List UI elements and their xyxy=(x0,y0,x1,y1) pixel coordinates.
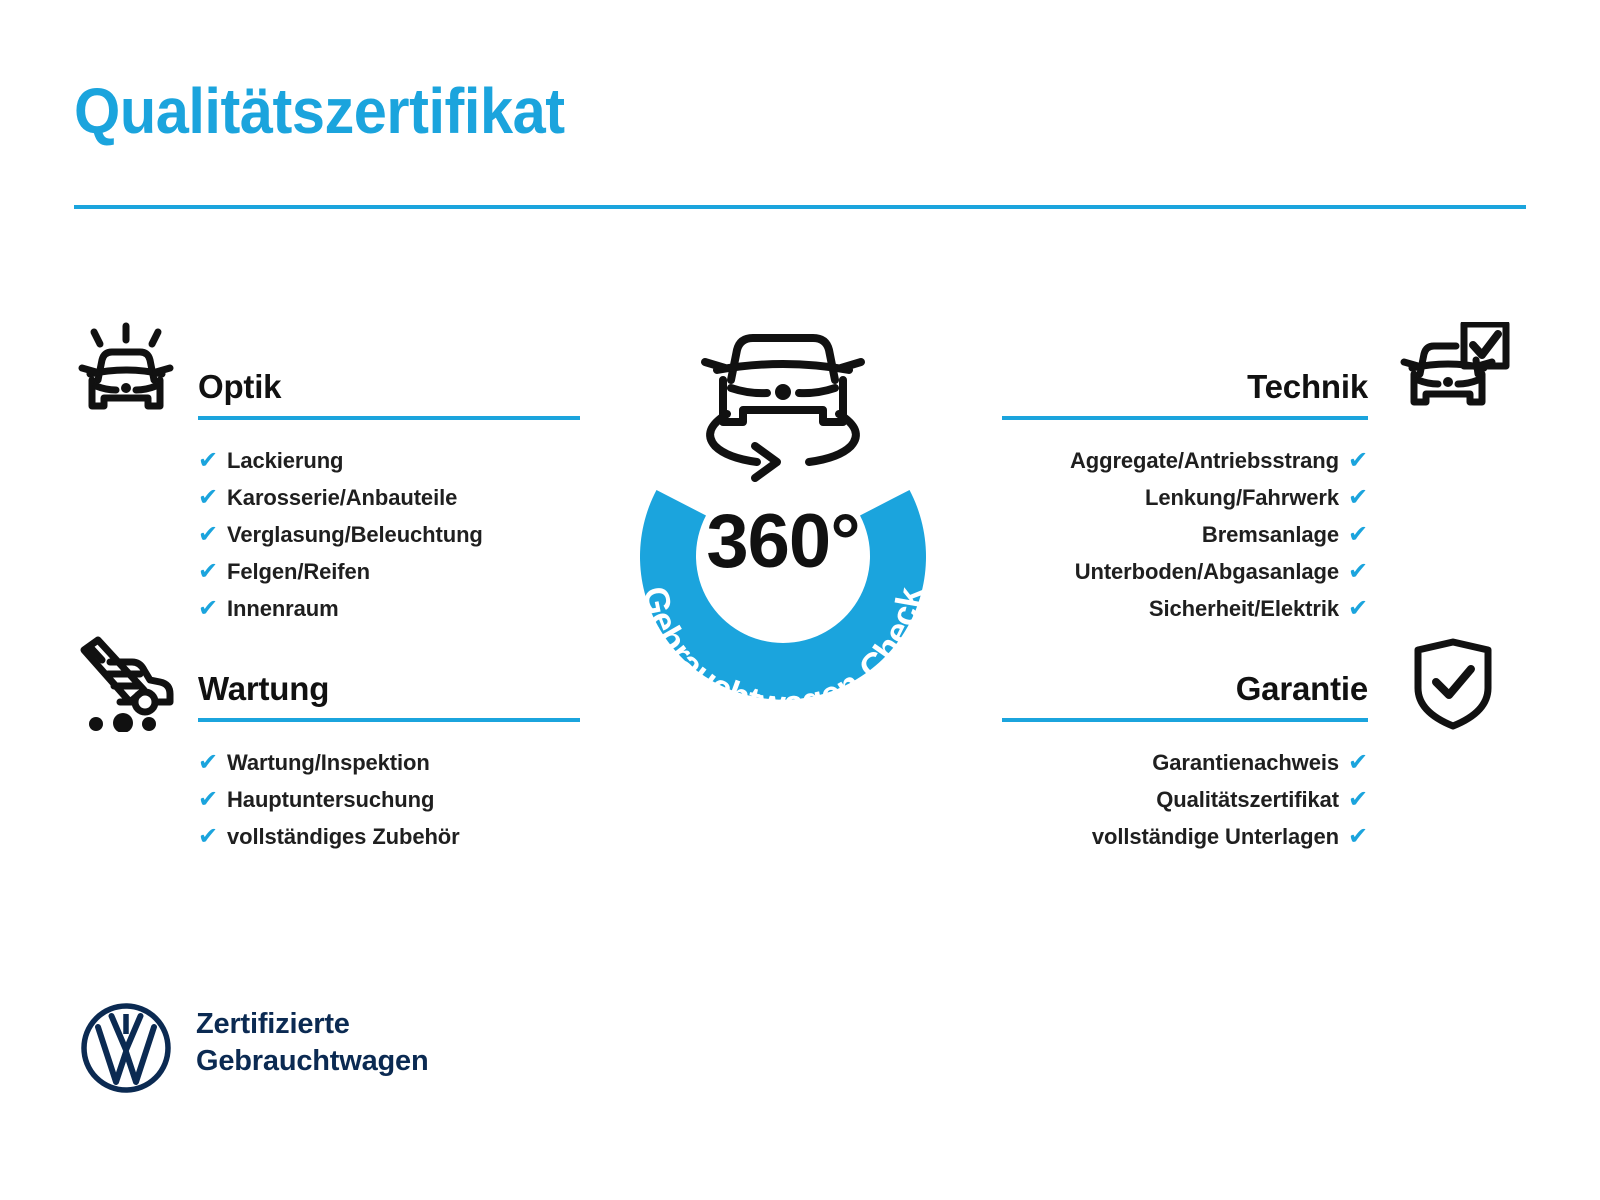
section-garantie: Garantie Garantienachweis✔ Qualitätszert… xyxy=(1002,670,1368,855)
pencil-car-service-icon xyxy=(74,636,178,737)
check-icon: ✔ xyxy=(1348,595,1368,622)
section-title: Garantie xyxy=(1002,670,1368,708)
list-item-label: Bremsanlage xyxy=(1202,522,1339,547)
check-icon: ✔ xyxy=(198,823,218,850)
check-icon: ✔ xyxy=(198,447,218,474)
checklist: Aggregate/Antriebsstrang✔ Lenkung/Fahrwe… xyxy=(1002,442,1368,627)
section-optik: Optik ✔Lackierung ✔Karosserie/Anbauteile… xyxy=(198,368,580,627)
vw-logo-icon xyxy=(78,1000,174,1101)
list-item: ✔Felgen/Reifen xyxy=(198,553,580,590)
check-icon: ✔ xyxy=(1348,447,1368,474)
list-item: vollständige Unterlagen✔ xyxy=(1002,818,1368,855)
check-icon: ✔ xyxy=(1348,558,1368,585)
list-item-label: Garantienachweis xyxy=(1152,750,1339,775)
shield-check-icon xyxy=(1410,636,1496,737)
section-title: Wartung xyxy=(198,670,580,708)
section-title: Technik xyxy=(1002,368,1368,406)
list-item-label: vollständiges Zubehör xyxy=(227,824,460,849)
list-item-label: Aggregate/Antriebsstrang xyxy=(1070,448,1339,473)
brand-lockup: Zertifizierte Gebrauchtwagen xyxy=(78,1000,598,1100)
list-item: ✔Karosserie/Anbauteile xyxy=(198,479,580,516)
list-item-label: Verglasung/Beleuchtung xyxy=(227,522,483,547)
brand-line-1: Zertifizierte xyxy=(196,1006,428,1043)
section-technik: Technik Aggregate/Antriebsstrang✔ Lenkun… xyxy=(1002,368,1368,627)
list-item-label: vollständige Unterlagen xyxy=(1092,824,1339,849)
check-icon: ✔ xyxy=(1348,786,1368,813)
list-item: ✔Hauptuntersuchung xyxy=(198,781,580,818)
badge-360-gebrauchtwagen-check: Gebrauchtwagen-Check 360° xyxy=(568,300,998,770)
list-item: Bremsanlage✔ xyxy=(1002,516,1368,553)
brand-text: Zertifizierte Gebrauchtwagen xyxy=(196,1006,428,1080)
check-icon: ✔ xyxy=(1348,521,1368,548)
check-icon: ✔ xyxy=(198,558,218,585)
list-item-label: Sicherheit/Elektrik xyxy=(1149,596,1339,621)
list-item-label: Hauptuntersuchung xyxy=(227,787,434,812)
checklist: ✔Lackierung ✔Karosserie/Anbauteile ✔Verg… xyxy=(198,442,580,627)
list-item: ✔Innenraum xyxy=(198,590,580,627)
section-divider xyxy=(1002,718,1368,722)
check-icon: ✔ xyxy=(198,786,218,813)
checklist: ✔Wartung/Inspektion ✔Hauptuntersuchung ✔… xyxy=(198,744,580,855)
list-item: ✔Verglasung/Beleuchtung xyxy=(198,516,580,553)
list-item: ✔Lackierung xyxy=(198,442,580,479)
list-item: Aggregate/Antriebsstrang✔ xyxy=(1002,442,1368,479)
check-icon: ✔ xyxy=(198,484,218,511)
check-icon: ✔ xyxy=(1348,823,1368,850)
list-item: ✔vollständiges Zubehör xyxy=(198,818,580,855)
list-item-label: Karosserie/Anbauteile xyxy=(227,485,457,510)
list-item-label: Unterboden/Abgasanlage xyxy=(1075,559,1339,584)
check-icon: ✔ xyxy=(1348,749,1368,776)
brand-line-2: Gebrauchtwagen xyxy=(196,1043,428,1080)
list-item-label: Felgen/Reifen xyxy=(227,559,370,584)
list-item: ✔Wartung/Inspektion xyxy=(198,744,580,781)
list-item-label: Innenraum xyxy=(227,596,339,621)
section-divider xyxy=(198,718,580,722)
title-divider xyxy=(74,205,1526,209)
checklist: Garantienachweis✔ Qualitätszertifikat✔ v… xyxy=(1002,744,1368,855)
car-front-checkbox-icon xyxy=(1398,322,1510,423)
list-item-label: Lackierung xyxy=(227,448,343,473)
check-icon: ✔ xyxy=(198,595,218,622)
badge-degrees-label: 360° xyxy=(568,498,998,585)
list-item: Unterboden/Abgasanlage✔ xyxy=(1002,553,1368,590)
list-item: Sicherheit/Elektrik✔ xyxy=(1002,590,1368,627)
car-front-shine-icon xyxy=(74,320,178,425)
section-divider xyxy=(198,416,580,420)
section-header: Garantie xyxy=(1002,670,1368,722)
section-divider xyxy=(1002,416,1368,420)
section-header: Technik xyxy=(1002,368,1368,420)
section-wartung: Wartung ✔Wartung/Inspektion ✔Hauptunters… xyxy=(198,670,580,855)
section-header: Optik xyxy=(198,368,580,420)
list-item-label: Wartung/Inspektion xyxy=(227,750,430,775)
list-item: Qualitätszertifikat✔ xyxy=(1002,781,1368,818)
list-item: Garantienachweis✔ xyxy=(1002,744,1368,781)
section-title: Optik xyxy=(198,368,580,406)
page-title: Qualitätszertifikat xyxy=(74,78,565,145)
section-header: Wartung xyxy=(198,670,580,722)
list-item-label: Lenkung/Fahrwerk xyxy=(1145,485,1339,510)
check-icon: ✔ xyxy=(1348,484,1368,511)
check-icon: ✔ xyxy=(198,521,218,548)
list-item: Lenkung/Fahrwerk✔ xyxy=(1002,479,1368,516)
check-icon: ✔ xyxy=(198,749,218,776)
list-item-label: Qualitätszertifikat xyxy=(1156,787,1339,812)
